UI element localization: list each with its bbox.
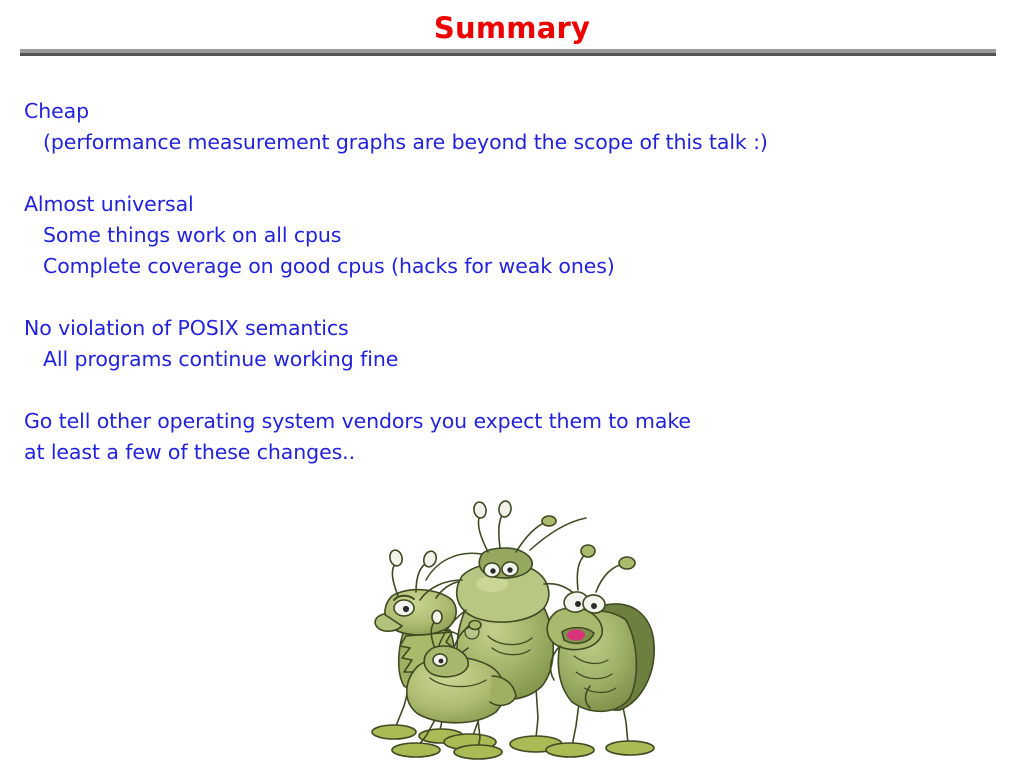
bug-illustration: [340, 480, 700, 768]
bug-right: [546, 545, 654, 757]
text-line: Almost universal: [24, 189, 984, 220]
text-line: No violation of POSIX semantics: [24, 313, 984, 344]
text-line: Some things work on all cpus: [24, 220, 984, 251]
three-bugs-icon: [340, 480, 700, 768]
slide-body: Cheap (performance measurement graphs ar…: [24, 96, 984, 468]
text-block: Cheap (performance measurement graphs ar…: [24, 96, 984, 158]
text-block: No violation of POSIX semantics All prog…: [24, 313, 984, 375]
text-line: Complete coverage on good cpus (hacks fo…: [24, 251, 984, 282]
text-block: Go tell other operating system vendors y…: [24, 406, 984, 468]
page-title: Summary: [0, 11, 1024, 45]
text-line: Go tell other operating system vendors y…: [24, 406, 984, 437]
title-divider: [20, 49, 996, 56]
text-line: All programs continue working fine: [24, 344, 984, 375]
divider-bottom-bar: [20, 53, 996, 56]
text-block: Almost universal Some things work on all…: [24, 189, 984, 282]
text-line: Cheap: [24, 96, 984, 127]
text-line: at least a few of these changes..: [24, 437, 984, 468]
text-line: (performance measurement graphs are beyo…: [24, 127, 984, 158]
